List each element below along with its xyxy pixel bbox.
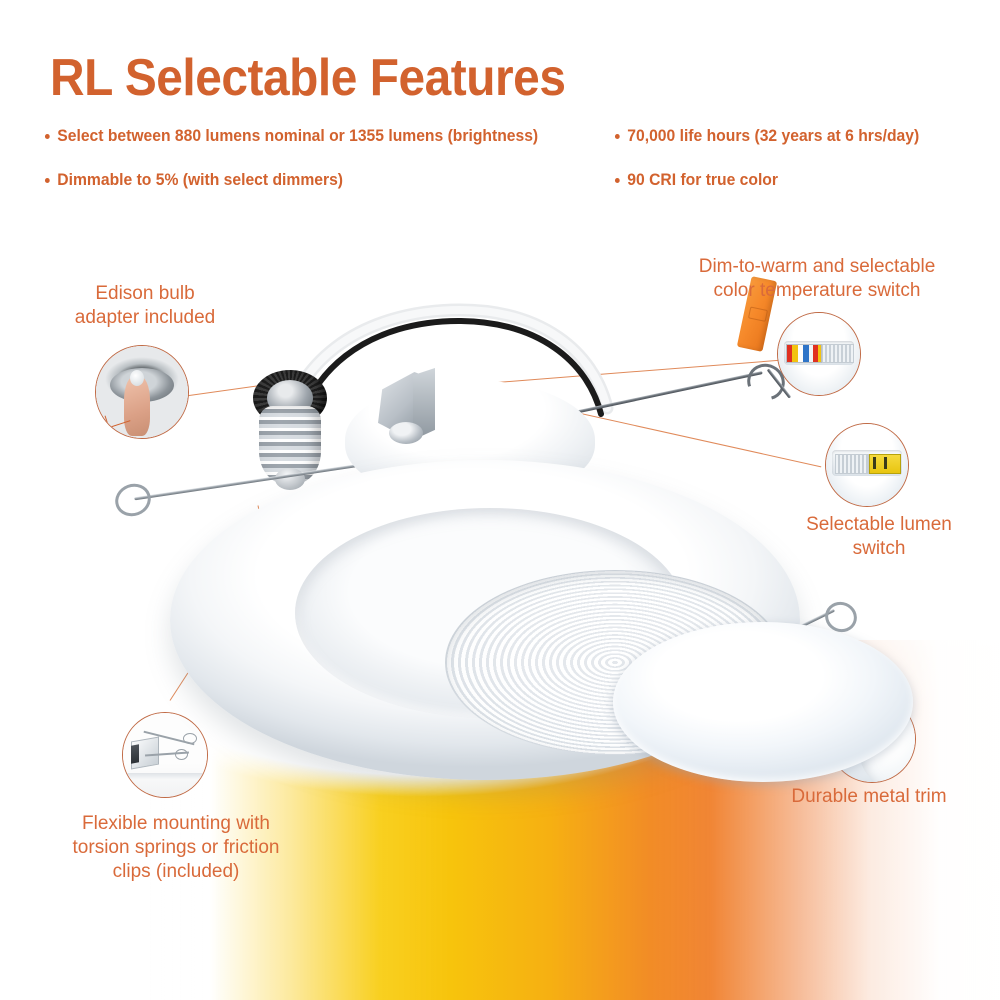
callout-edison-bulb-adapter: Edison bulb adapter included <box>42 282 248 330</box>
callout-flexible-mounting: Flexible mounting with torsion springs o… <box>42 812 310 884</box>
bullet-life-hours: 70,000 life hours (32 years at 6 hrs/day… <box>614 125 975 147</box>
page-title: RL Selectable Features <box>50 48 565 108</box>
spring-loop <box>111 479 156 521</box>
bracket-screw <box>389 422 423 444</box>
callout-lumen-switch: Selectable lumen switch <box>780 513 978 561</box>
product-feature-infographic: RL Selectable Features Select between 88… <box>0 0 1000 1000</box>
switch-ribs-left <box>835 454 869 474</box>
dip-switch-lumen-contacts <box>873 457 895 469</box>
callout-durable-metal-trim: Durable metal trim <box>756 785 982 809</box>
reflector-baffle <box>445 570 785 755</box>
spring-loop <box>741 357 791 407</box>
diffuser-lens <box>613 622 913 782</box>
bullet-row-2: Dimmable to 5% (with select dimmers) 90 … <box>44 169 994 191</box>
feature-bullet-list: Select between 880 lumens nominal or 135… <box>44 125 994 191</box>
metal-trim-ring <box>170 460 800 780</box>
downlight-fixture-photo <box>95 350 835 780</box>
bullet-lumens: Select between 880 lumens nominal or 135… <box>44 125 586 147</box>
callout-dim-to-warm: Dim-to-warm and selectable color tempera… <box>668 255 966 303</box>
bullet-dimmable: Dimmable to 5% (with select dimmers) <box>44 169 586 191</box>
bullet-column-left-1: Select between 880 lumens nominal or 135… <box>44 125 614 147</box>
bullet-column-left-2: Dimmable to 5% (with select dimmers) <box>44 169 614 191</box>
bullet-column-right-2: 90 CRI for true color <box>614 169 994 191</box>
bullet-column-right-1: 70,000 life hours (32 years at 6 hrs/day… <box>614 125 994 147</box>
trim-inner-ring <box>295 508 685 718</box>
bullet-cri: 90 CRI for true color <box>614 169 975 191</box>
inset-lumen-switch <box>825 423 909 507</box>
lumen-inset-photo <box>826 424 908 506</box>
bullet-row-1: Select between 880 lumens nominal or 135… <box>44 125 994 147</box>
